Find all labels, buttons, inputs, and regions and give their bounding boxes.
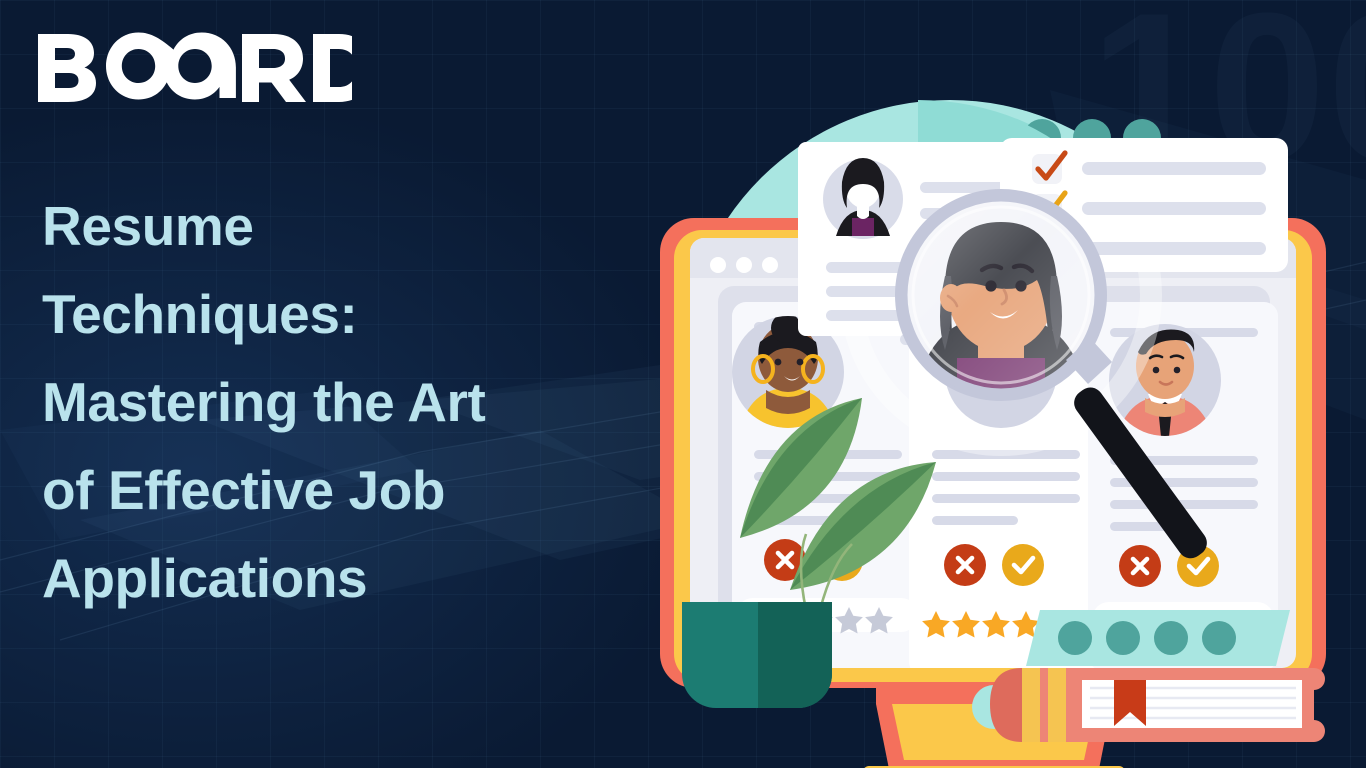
books-stack xyxy=(990,668,1325,742)
page-title: Resume Techniques: Mastering the Art of … xyxy=(42,182,642,622)
headline-line-2: Techniques: xyxy=(42,270,642,358)
accept-badge-center[interactable] xyxy=(1002,544,1044,586)
titlebar-dot-3 xyxy=(762,257,778,273)
book-spine-stripe-1 xyxy=(1022,668,1040,742)
headline-line-4: of Effective Job xyxy=(42,446,642,534)
headline-line-3: Mastering the Art xyxy=(42,358,642,446)
illustration xyxy=(620,90,1366,768)
board-logo[interactable]: BOARD xyxy=(32,26,352,106)
book-dot-strip xyxy=(1026,610,1290,666)
banner-root: 100 BOARD Resume Techniques: Mastering t… xyxy=(0,0,1366,768)
headline-line-5: Applications xyxy=(42,534,642,622)
titlebar-dot-1 xyxy=(710,257,726,273)
headline-line-1: Resume xyxy=(42,182,642,270)
titlebar-dot-2 xyxy=(736,257,752,273)
book-spine-stripe-2 xyxy=(1048,668,1066,742)
illustration-svg xyxy=(620,90,1366,768)
